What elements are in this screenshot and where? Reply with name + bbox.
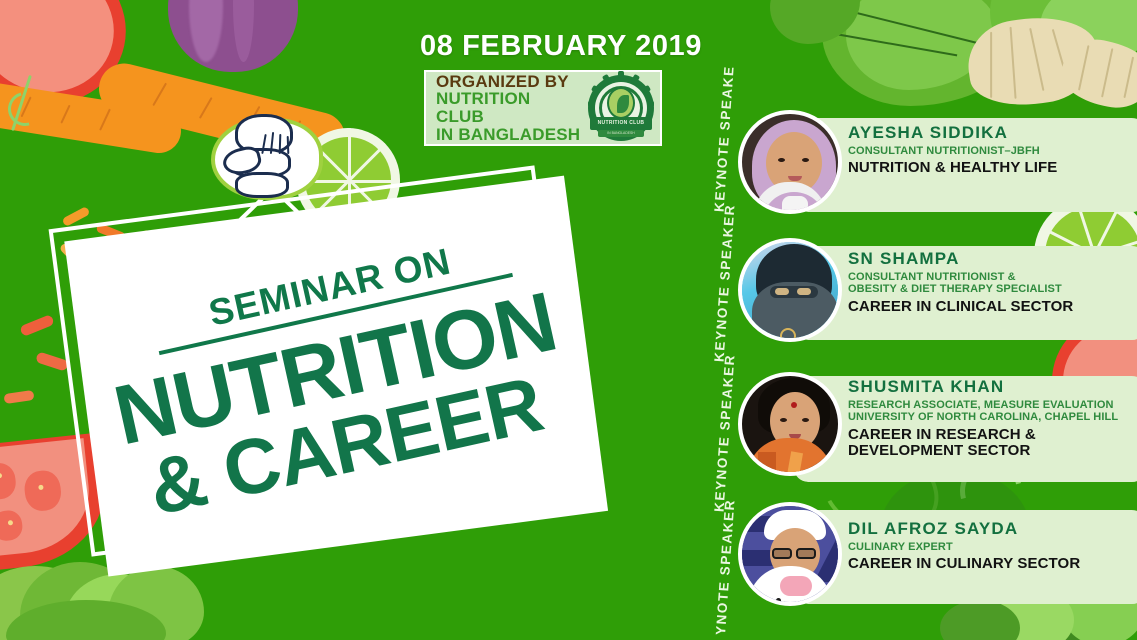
badge-sub-text: IN BANGLADESH: [598, 130, 644, 137]
organized-by-box: ORGANIZED BY NUTRITION CLUB IN BANGLADES…: [424, 70, 662, 146]
speaker-photo: [738, 110, 842, 214]
organizer-location: IN BANGLADESH: [436, 126, 582, 144]
speaker-topic: CAREER IN CLINICAL SECTOR: [848, 299, 1137, 316]
onion-icon: [168, 0, 298, 72]
keynote-ribbon-label: KEYNOTE SPEAKER: [712, 66, 738, 212]
speaker-text: SHUSMITA KHAN RESEARCH ASSOCIATE, MEASUR…: [848, 378, 1137, 460]
fist-hand-icon: [205, 108, 330, 208]
speaker-text: SN SHAMPA CONSULTANT NUTRITIONIST & OBES…: [848, 250, 1137, 315]
speaker-photo: [738, 238, 842, 342]
nutrition-club-logo-icon: NUTRITION CLUB IN BANGLADESH: [588, 75, 654, 141]
speaker-photo: [738, 372, 842, 476]
speaker-role-line2: UNIVERSITY OF NORTH CAROLINA, CHAPEL HIL…: [848, 411, 1137, 424]
carrot-icon: [0, 80, 184, 156]
speaker-photo: [738, 502, 842, 606]
speaker-role-line2: OBESITY & DIET THERAPY SPECIALIST: [848, 283, 1137, 296]
speaker-topic: NUTRITION & HEALTHY LIFE: [848, 160, 1137, 177]
event-date: 08 FEBRUARY 2019: [420, 30, 702, 63]
tendril-icon: [11, 75, 32, 131]
poster-canvas: 08 FEBRUARY 2019 ORGANIZED BY NUTRITION …: [0, 0, 1137, 640]
speaker-role-line1: CONSULTANT NUTRITIONIST &: [848, 271, 1137, 284]
speaker-topic: CAREER IN CULINARY SECTOR: [848, 556, 1137, 573]
tomato-slice-icon: [0, 0, 140, 119]
keynote-ribbon-label: KEYNOTE SPEAKER: [712, 499, 738, 636]
organizer-name: NUTRITION CLUB: [436, 90, 582, 125]
ginger-root-icon: [963, 9, 1104, 112]
speaker-name: SN SHAMPA: [848, 250, 1137, 269]
speaker-role: CULINARY EXPERT: [848, 541, 1137, 554]
seminar-sign: SEMINAR ON NUTRITION & CAREER: [49, 165, 578, 556]
speaker-topic-line2: DEVELOPMENT SECTOR: [848, 443, 1137, 460]
speaker-name: AYESHA SIDDIKA: [848, 124, 1137, 143]
organized-by-text: ORGANIZED BY NUTRITION CLUB IN BANGLADES…: [436, 73, 582, 144]
speaker-role-line1: RESEARCH ASSOCIATE, MEASURE EVALUATION: [848, 399, 1137, 412]
speaker-text: DIL AFROZ SAYDA CULINARY EXPERT CAREER I…: [848, 520, 1137, 573]
keynote-ribbon-label: KEYNOTE SPEAKER: [712, 354, 738, 513]
badge-banner-text: NUTRITION CLUB: [590, 117, 652, 130]
speaker-text: AYESHA SIDDIKA CONSULTANT NUTRITIONIST–J…: [848, 124, 1137, 177]
keynote-ribbon-label: KEYNOTE SPEAKER: [712, 204, 738, 363]
speaker-name: SHUSMITA KHAN: [848, 378, 1137, 397]
speaker-role: CONSULTANT NUTRITIONIST–JBFH: [848, 145, 1137, 158]
speaker-name: DIL AFROZ SAYDA: [848, 520, 1137, 539]
tendril-icon: [2, 86, 48, 132]
speaker-topic-line1: CAREER IN RESEARCH &: [848, 427, 1137, 444]
organized-by-label: ORGANIZED BY: [436, 73, 582, 91]
ginger-root-icon: [1056, 33, 1137, 115]
